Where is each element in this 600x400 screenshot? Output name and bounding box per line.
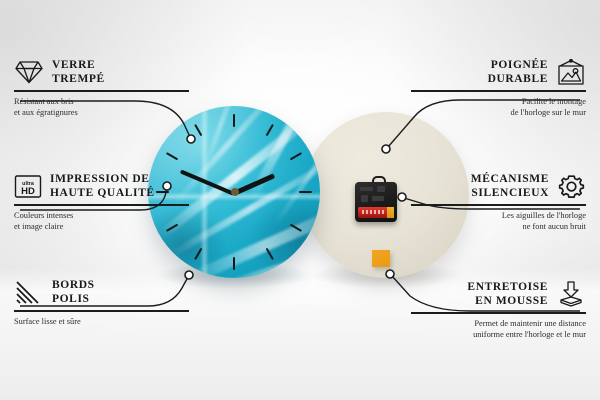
feature-desc-line2: ne font aucun bruit (411, 221, 586, 232)
feature-poignee-durable: POIGNÉE DURABLE Facilite le montage de l… (411, 58, 586, 118)
polished-edges-icon (14, 279, 44, 305)
feature-header: POIGNÉE DURABLE (411, 58, 586, 86)
foam-spacer-pad (372, 250, 390, 267)
feature-title-line1: MÉCANISME (471, 172, 549, 186)
feature-title: IMPRESSION DE HAUTE QUALITÉ (50, 172, 155, 200)
battery (358, 207, 394, 218)
feature-header: ultra HD IMPRESSION DE HAUTE QUALITÉ (14, 172, 189, 200)
battery-cap (387, 207, 394, 218)
feature-divider (14, 90, 189, 92)
feature-desc-line1: Les aiguilles de l'horloge (411, 210, 586, 221)
feature-bords-polis: BORDS POLIS Surface lisse et sûre (14, 278, 189, 327)
hour-marker (233, 257, 235, 270)
feature-impression-haute-qualite: ultra HD IMPRESSION DE HAUTE QUALITÉ Cou… (14, 172, 189, 232)
feature-title-line2: HAUTE QUALITÉ (50, 186, 155, 200)
feature-desc-line1: Surface lisse et sûre (14, 316, 189, 327)
feature-divider (14, 310, 189, 312)
feature-divider (14, 204, 189, 206)
feature-description: Les aiguilles de l'horloge ne font aucun… (411, 210, 586, 232)
movement-detail (361, 195, 368, 202)
product-infographic: VERRE TREMPÉ Résistant aux bris et aux é… (0, 0, 600, 400)
feature-desc-line1: Facilite le montage (411, 96, 586, 107)
feature-title-line2: TREMPÉ (52, 72, 105, 86)
diamond-icon (14, 59, 44, 85)
gear-icon (557, 173, 586, 200)
foam-spacer-icon (556, 280, 586, 308)
feature-divider (411, 312, 586, 314)
feature-header: VERRE TREMPÉ (14, 58, 189, 86)
feature-header: BORDS POLIS (14, 278, 189, 306)
feature-desc-line2: de l'horloge sur le mur (411, 107, 586, 118)
feature-title: ENTRETOISE EN MOUSSE (467, 280, 548, 308)
feature-divider (411, 204, 586, 206)
feature-desc-line1: Couleurs intenses (14, 210, 189, 221)
feature-description: Couleurs intenses et image claire (14, 210, 189, 232)
movement-detail (360, 187, 373, 191)
feature-entretoise-en-mousse: ENTRETOISE EN MOUSSE Permet de maintenir… (411, 280, 586, 340)
feature-desc-line2: et aux égratignures (14, 107, 189, 118)
feature-title-line1: ENTRETOISE (467, 280, 548, 294)
feature-desc-line1: Résistant aux bris (14, 96, 189, 107)
feature-title-line2: SILENCIEUX (471, 186, 549, 200)
feature-divider (411, 90, 586, 92)
feature-header: MÉCANISME SILENCIEUX (411, 172, 586, 200)
svg-text:HD: HD (21, 186, 35, 197)
feature-title-line1: IMPRESSION DE (50, 172, 155, 186)
feature-header: ENTRETOISE EN MOUSSE (411, 280, 586, 308)
movement-detail (372, 196, 384, 201)
movement-detail (377, 186, 385, 192)
feature-desc-line1: Permet de maintenir une distance (411, 318, 586, 329)
feature-desc-line2: uniforme entre l'horloge et le mur (411, 329, 586, 340)
feature-title-line2: EN MOUSSE (467, 294, 548, 308)
feature-title: MÉCANISME SILENCIEUX (471, 172, 549, 200)
feature-title-line2: DURABLE (488, 72, 548, 86)
battery-label (362, 210, 384, 214)
feature-desc-line2: et image claire (14, 221, 189, 232)
hour-marker (233, 114, 235, 127)
quartz-movement (355, 182, 397, 222)
feature-title: VERRE TREMPÉ (52, 58, 105, 86)
feature-mecanisme-silencieux: MÉCANISME SILENCIEUX Les aiguilles de l'… (411, 172, 586, 232)
feature-description: Surface lisse et sûre (14, 316, 189, 327)
feature-description: Permet de maintenir une distance uniform… (411, 318, 586, 340)
feature-title: BORDS POLIS (52, 278, 95, 306)
feature-title-line2: POLIS (52, 292, 95, 306)
feature-description: Facilite le montage de l'horloge sur le … (411, 96, 586, 118)
ultra-hd-icon: ultra HD (14, 174, 42, 199)
picture-frame-hanger-icon (556, 59, 586, 86)
hour-marker (299, 191, 312, 193)
feature-title-line1: VERRE (52, 58, 105, 72)
feature-title-line1: POIGNÉE (488, 58, 548, 72)
feature-verre-trempe: VERRE TREMPÉ Résistant aux bris et aux é… (14, 58, 189, 118)
feature-description: Résistant aux bris et aux égratignures (14, 96, 189, 118)
hands-center-cap (231, 188, 239, 196)
feature-title-line1: BORDS (52, 278, 95, 292)
feature-title: POIGNÉE DURABLE (488, 58, 548, 86)
